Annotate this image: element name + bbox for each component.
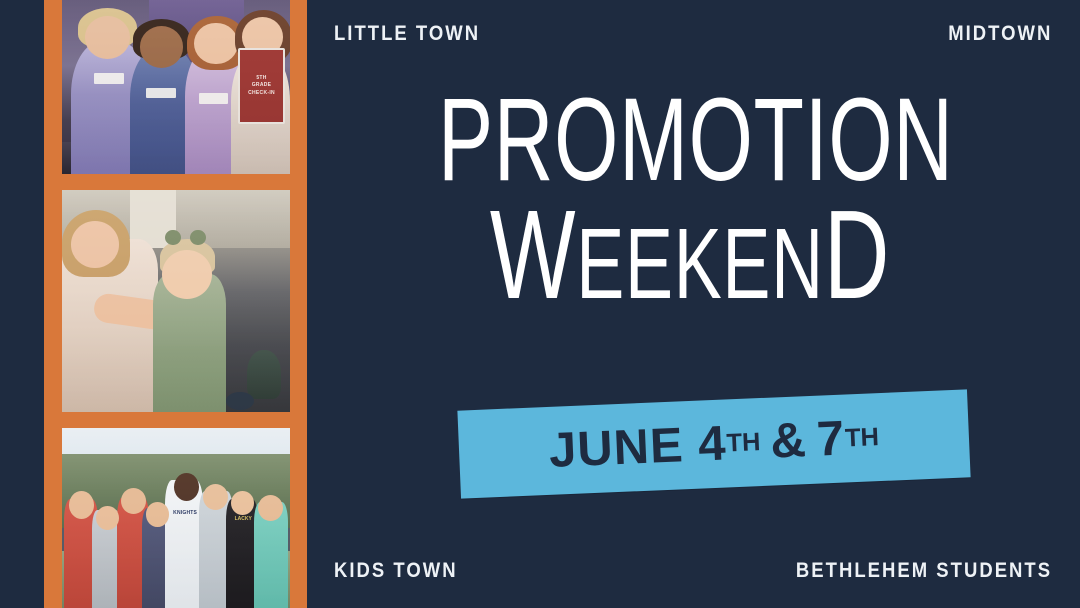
- promotion-weekend-poster: 5TH GRADE CHECK-IN: [0, 0, 1080, 608]
- headline-line-weekend: WEEKEND: [431, 201, 949, 309]
- label-little-town: LITTLE TOWN: [334, 22, 480, 46]
- photo-kids-checkin: 5TH GRADE CHECK-IN: [62, 0, 290, 174]
- label-kids-town: KIDS TOWN: [334, 559, 458, 583]
- headline-weekend-d: D: [824, 184, 890, 325]
- date-day-first: 4: [697, 416, 728, 473]
- headline-weekend-w: W: [490, 184, 576, 325]
- date-month: JUNE: [548, 417, 685, 479]
- photo-strip: 5TH GRADE CHECK-IN: [44, 0, 307, 608]
- date-day-first-suffix: TH: [726, 428, 761, 458]
- photo-students-group: KNIGHTS LACKY: [62, 428, 290, 608]
- photo-toddler-and-volunteer: [62, 190, 290, 412]
- date-separator: &: [759, 412, 818, 470]
- headline-weekend-body: EEKEN: [576, 208, 824, 320]
- label-midtown: MIDTOWN: [948, 22, 1052, 46]
- date-day-second-suffix: TH: [844, 423, 879, 453]
- label-bethlehem-students: BETHLEHEM STUDENTS: [796, 559, 1052, 583]
- date-day-second: 7: [816, 411, 847, 468]
- headline-block: PROMOTION WEEKEND: [330, 90, 1050, 310]
- headline-line-promotion: PROMOTION: [438, 90, 942, 191]
